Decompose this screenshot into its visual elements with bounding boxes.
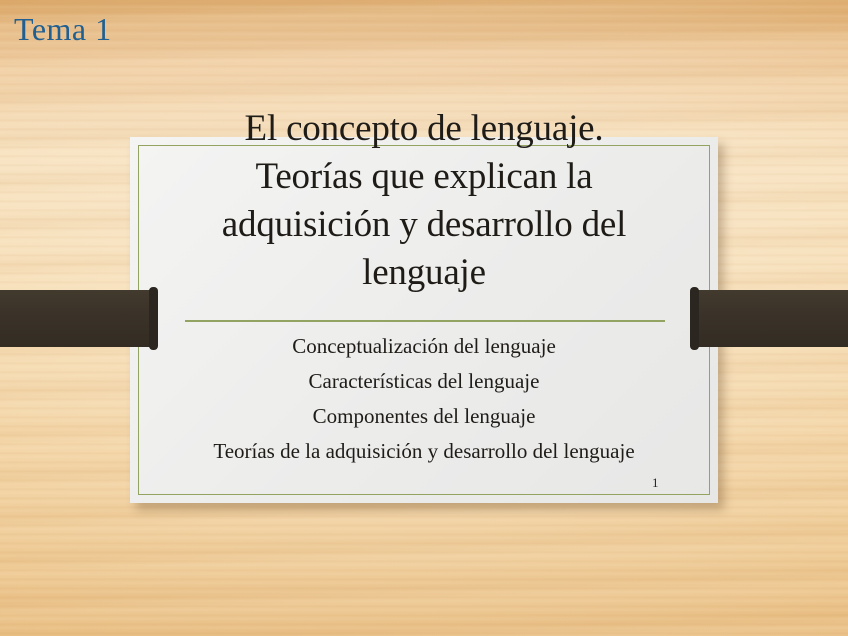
- slide-title: El concepto de lenguaje. Teorías que exp…: [124, 105, 724, 297]
- title-line-3: adquisición y desarrollo del: [124, 201, 724, 249]
- subtitle-line-3: Componentes del lenguaje: [60, 399, 788, 434]
- slide-subtitle-list: Conceptualización del lenguaje Caracterí…: [60, 329, 788, 469]
- title-line-1: El concepto de lenguaje.: [124, 105, 724, 153]
- subtitle-line-4: Teorías de la adquisición y desarrollo d…: [60, 434, 788, 469]
- title-line-4: lenguaje: [124, 249, 724, 297]
- slide-number: 1: [652, 475, 659, 491]
- slide-canvas: Tema 1 El concepto de lenguaje. Teorías …: [0, 0, 848, 636]
- subtitle-line-2: Características del lenguaje: [60, 364, 788, 399]
- title-line-2: Teorías que explican la: [124, 153, 724, 201]
- topic-label: Tema 1: [14, 12, 112, 47]
- subtitle-line-1: Conceptualización del lenguaje: [60, 329, 788, 364]
- title-divider-rule: [185, 320, 665, 322]
